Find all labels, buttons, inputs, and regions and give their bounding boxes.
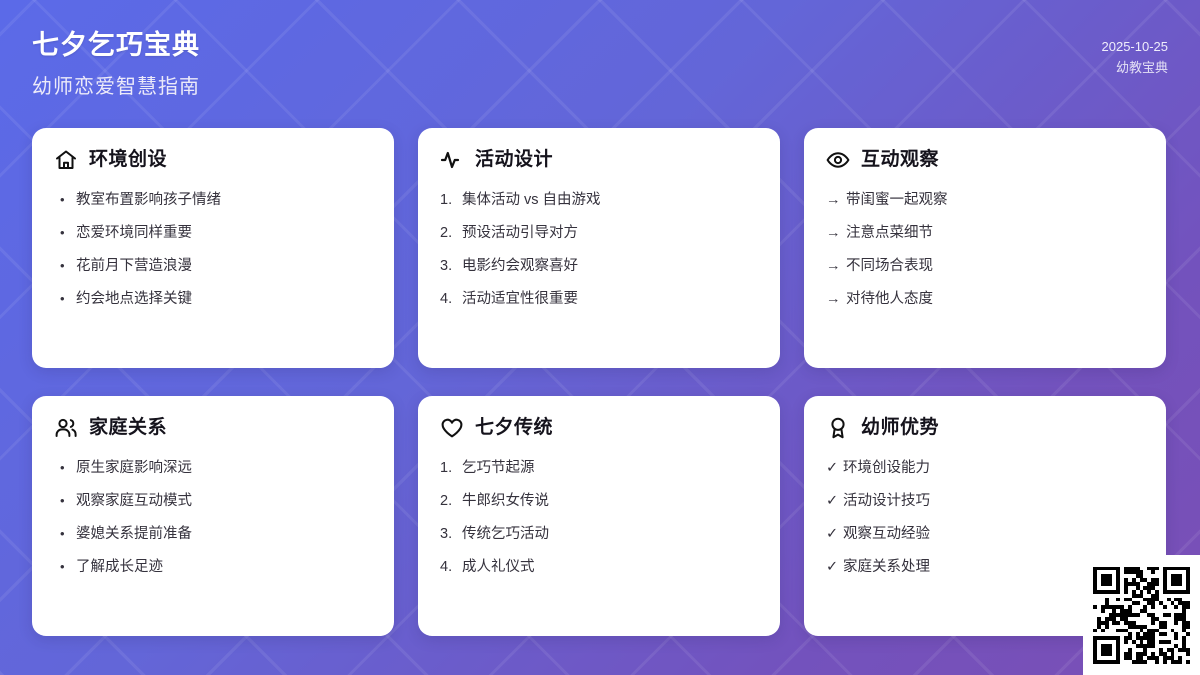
list-item: •观察家庭互动模式: [54, 491, 372, 511]
list-item: ✓活动设计技巧: [826, 491, 1144, 511]
list-marker: 2.: [440, 491, 462, 511]
qr-code[interactable]: [1093, 567, 1190, 664]
list-marker: •: [54, 256, 76, 276]
heart-icon: [440, 416, 464, 440]
list-item: •约会地点选择关键: [54, 289, 372, 309]
list-marker: →: [826, 190, 846, 210]
list-item-text: 恋爱环境同样重要: [76, 223, 372, 243]
list-item: 4.活动适宜性很重要: [440, 289, 758, 309]
list-item: ✓环境创设能力: [826, 458, 1144, 478]
list-marker: 1.: [440, 190, 462, 210]
list-item-text: 原生家庭影响深远: [76, 458, 372, 478]
list-marker: →: [826, 289, 846, 309]
list-item-text: 带闺蜜一起观察: [846, 190, 1144, 210]
list-item-text: 传统乞巧活动: [462, 524, 758, 544]
card-3: 互动观察→带闺蜜一起观察→注意点菜细节→不同场合表现→对待他人态度: [804, 128, 1166, 368]
eye-icon: [826, 148, 850, 172]
list-item: 1.乞巧节起源: [440, 458, 758, 478]
card-grid: 环境创设•教室布置影响孩子情绪•恋爱环境同样重要•花前月下营造浪漫•约会地点选择…: [32, 128, 1174, 636]
card-title: 家庭关系: [89, 416, 167, 440]
list-marker: ✓: [826, 491, 843, 511]
list-item: →注意点菜细节: [826, 223, 1144, 243]
list-item: →带闺蜜一起观察: [826, 190, 1144, 210]
list-item: •了解成长足迹: [54, 557, 372, 577]
card-title: 活动设计: [475, 148, 553, 172]
list-item-text: 电影约会观察喜好: [462, 256, 758, 276]
list-item-text: 约会地点选择关键: [76, 289, 372, 309]
card-header: 幼师优势: [826, 416, 1144, 440]
qr-code-container[interactable]: [1083, 555, 1200, 675]
list-item-text: 花前月下营造浪漫: [76, 256, 372, 276]
list-marker: •: [54, 491, 76, 511]
list-item-text: 牛郎织女传说: [462, 491, 758, 511]
card-header: 家庭关系: [54, 416, 372, 440]
activity-icon: [440, 148, 464, 172]
list-marker: •: [54, 223, 76, 243]
list-marker: 4.: [440, 289, 462, 309]
list-marker: 1.: [440, 458, 462, 478]
list-marker: ✓: [826, 458, 843, 478]
list-marker: •: [54, 557, 76, 577]
card-list: •教室布置影响孩子情绪•恋爱环境同样重要•花前月下营造浪漫•约会地点选择关键: [54, 190, 372, 309]
header-meta: 2025-10-25 幼教宝典: [1102, 0, 1200, 78]
list-item-text: 不同场合表现: [846, 256, 1144, 276]
list-item-text: 注意点菜细节: [846, 223, 1144, 243]
list-marker: •: [54, 190, 76, 210]
list-item: 4.成人礼仪式: [440, 557, 758, 577]
home-icon: [54, 148, 78, 172]
list-marker: ✓: [826, 557, 843, 577]
list-item: 1.集体活动 vs 自由游戏: [440, 190, 758, 210]
list-marker: 3.: [440, 256, 462, 276]
header-brand: 幼教宝典: [1102, 57, 1169, 78]
list-marker: ✓: [826, 524, 843, 544]
card-list: 1.乞巧节起源2.牛郎织女传说3.传统乞巧活动4.成人礼仪式: [440, 458, 758, 577]
list-item: →不同场合表现: [826, 256, 1144, 276]
page-title: 七夕乞巧宝典: [32, 28, 200, 62]
list-item-text: 成人礼仪式: [462, 557, 758, 577]
list-marker: •: [54, 458, 76, 478]
card-header: 活动设计: [440, 148, 758, 172]
list-marker: •: [54, 289, 76, 309]
list-item: •婆媳关系提前准备: [54, 524, 372, 544]
list-item: 2.预设活动引导对方: [440, 223, 758, 243]
list-item: 3.电影约会观察喜好: [440, 256, 758, 276]
list-item: •花前月下营造浪漫: [54, 256, 372, 276]
list-item: →对待他人态度: [826, 289, 1144, 309]
list-item-text: 集体活动 vs 自由游戏: [462, 190, 758, 210]
card-4: 家庭关系•原生家庭影响深远•观察家庭互动模式•婆媳关系提前准备•了解成长足迹: [32, 396, 394, 636]
page-subtitle: 幼师恋爱智慧指南: [32, 72, 200, 102]
header-date: 2025-10-25: [1102, 36, 1169, 57]
users-icon: [54, 416, 78, 440]
list-marker: 2.: [440, 223, 462, 243]
card-list: •原生家庭影响深远•观察家庭互动模式•婆媳关系提前准备•了解成长足迹: [54, 458, 372, 577]
card-title: 互动观察: [861, 148, 939, 172]
list-item: ✓观察互动经验: [826, 524, 1144, 544]
page-root: 七夕乞巧宝典 幼师恋爱智慧指南 2025-10-25 幼教宝典 环境创设•教室布…: [0, 0, 1200, 675]
list-item-text: 乞巧节起源: [462, 458, 758, 478]
card-5: 七夕传统1.乞巧节起源2.牛郎织女传说3.传统乞巧活动4.成人礼仪式: [418, 396, 780, 636]
award-icon: [826, 416, 850, 440]
list-marker: →: [826, 256, 846, 276]
list-marker: →: [826, 223, 846, 243]
card-list: 1.集体活动 vs 自由游戏2.预设活动引导对方3.电影约会观察喜好4.活动适宜…: [440, 190, 758, 309]
card-2: 活动设计1.集体活动 vs 自由游戏2.预设活动引导对方3.电影约会观察喜好4.…: [418, 128, 780, 368]
card-header: 环境创设: [54, 148, 372, 172]
list-item-text: 活动设计技巧: [843, 491, 1144, 511]
card-1: 环境创设•教室布置影响孩子情绪•恋爱环境同样重要•花前月下营造浪漫•约会地点选择…: [32, 128, 394, 368]
list-item-text: 对待他人态度: [846, 289, 1144, 309]
list-marker: 3.: [440, 524, 462, 544]
card-title: 幼师优势: [861, 416, 939, 440]
list-item: 2.牛郎织女传说: [440, 491, 758, 511]
list-item-text: 活动适宜性很重要: [462, 289, 758, 309]
list-item: •恋爱环境同样重要: [54, 223, 372, 243]
header-titles: 七夕乞巧宝典 幼师恋爱智慧指南: [0, 0, 200, 102]
list-item: •原生家庭影响深远: [54, 458, 372, 478]
card-list: →带闺蜜一起观察→注意点菜细节→不同场合表现→对待他人态度: [826, 190, 1144, 309]
list-item-text: 观察互动经验: [843, 524, 1144, 544]
list-item-text: 婆媳关系提前准备: [76, 524, 372, 544]
list-item-text: 预设活动引导对方: [462, 223, 758, 243]
page-header: 七夕乞巧宝典 幼师恋爱智慧指南 2025-10-25 幼教宝典: [0, 0, 1200, 128]
list-item-text: 环境创设能力: [843, 458, 1144, 478]
list-item: 3.传统乞巧活动: [440, 524, 758, 544]
card-title: 环境创设: [89, 148, 167, 172]
list-item-text: 观察家庭互动模式: [76, 491, 372, 511]
card-title: 七夕传统: [475, 416, 553, 440]
card-header: 七夕传统: [440, 416, 758, 440]
list-item-text: 了解成长足迹: [76, 557, 372, 577]
list-marker: •: [54, 524, 76, 544]
list-item-text: 教室布置影响孩子情绪: [76, 190, 372, 210]
card-header: 互动观察: [826, 148, 1144, 172]
list-item: •教室布置影响孩子情绪: [54, 190, 372, 210]
list-marker: 4.: [440, 557, 462, 577]
